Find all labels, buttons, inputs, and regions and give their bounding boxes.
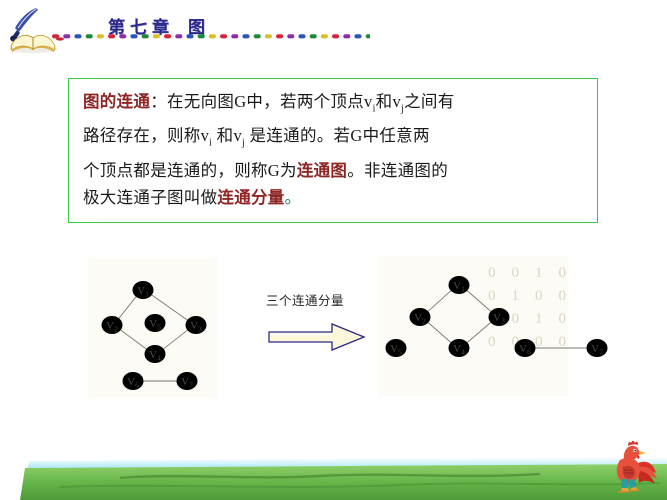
footer-landscape-scene bbox=[0, 440, 667, 500]
graph-vertex: V6 bbox=[515, 339, 536, 357]
right-graph-nodes: V1V2V3V4V5V6V7 bbox=[386, 276, 608, 357]
rooster-cartoon-icon bbox=[604, 437, 660, 493]
graph-edge bbox=[467, 291, 491, 312]
graph-edge bbox=[467, 323, 490, 343]
graph-edge bbox=[428, 291, 451, 312]
right-block-arrow-icon bbox=[268, 322, 366, 352]
transition-label: 三个连通分量 bbox=[266, 290, 344, 309]
graph-edge bbox=[428, 323, 451, 343]
graph-vertex: V3 bbox=[489, 308, 510, 326]
graph-vertex: V2 bbox=[410, 308, 431, 326]
graph-vertex: V1 bbox=[449, 276, 470, 294]
graph-vertex: V7 bbox=[587, 339, 608, 357]
graph-vertex: V5 bbox=[386, 339, 407, 357]
connected-components-figure: V1V2V3V4V5V6V7 bbox=[0, 0, 667, 500]
graph-vertex: V4 bbox=[449, 339, 470, 357]
